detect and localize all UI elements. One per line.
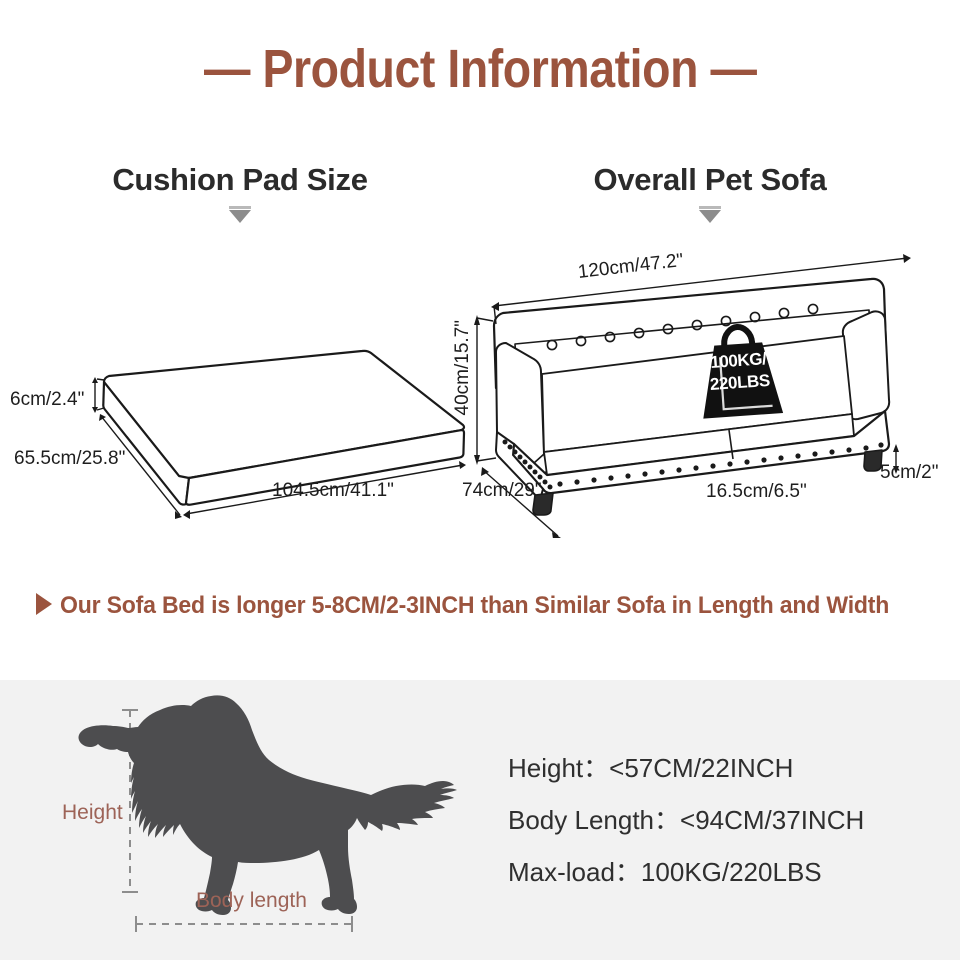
spec-body-length: Body Length：<94CM/37INCH: [508, 794, 864, 846]
highlight-banner: Our Sofa Bed is longer 5-8CM/2-3INCH tha…: [0, 592, 960, 620]
dog-size-panel: Height Body length Height：<57CM/22INCH B…: [0, 680, 960, 960]
product-information-infographic: — Product Information — Cushion Pad Size…: [0, 0, 960, 960]
section-heading-sofa-text: Overall Pet Sofa: [560, 162, 860, 198]
dimension-line-thickness: [92, 377, 104, 413]
cushion-pad-diagram: [0, 330, 470, 535]
sofa-height-label: 40cm/15.7": [452, 320, 476, 415]
cushion-thickness-label: 6cm/2.4": [10, 389, 84, 411]
section-heading-cushion: Cushion Pad Size: [90, 162, 390, 224]
dimension-line-sofa-height: [474, 315, 496, 465]
sofa-seat-height-label: 16.5cm/6.5": [706, 481, 807, 503]
section-heading-cushion-text: Cushion Pad Size: [90, 162, 390, 198]
highlight-banner-text: Our Sofa Bed is longer 5-8CM/2-3INCH tha…: [60, 592, 889, 620]
dog-spec-list: Height：<57CM/22INCH Body Length：<94CM/37…: [508, 742, 864, 898]
cushion-length-label: 104.5cm/41.1": [272, 480, 394, 502]
section-heading-sofa: Overall Pet Sofa: [560, 162, 860, 224]
spec-height: Height：<57CM/22INCH: [508, 742, 864, 794]
max-load-weight-tag: 100KG/ 220LBS: [687, 317, 792, 424]
highlight-banner-inner: Our Sofa Bed is longer 5-8CM/2-3INCH tha…: [36, 592, 924, 620]
page-title-text: — Product Information —: [204, 38, 757, 100]
cushion-pad-illustration: [0, 330, 470, 530]
dog-height-label: Height: [62, 801, 123, 825]
weight-icon: [687, 317, 792, 424]
dog-body-length-label: Body length: [196, 889, 307, 913]
sofa-foot-height-label: 5cm/2": [880, 462, 938, 484]
chevron-down-icon: [226, 206, 254, 224]
chevron-down-icon: [696, 206, 724, 224]
spec-max-load: Max-load：100KG/220LBS: [508, 846, 864, 898]
play-triangle-icon: [36, 593, 52, 615]
sofa-depth-label: 74cm/29": [462, 480, 542, 502]
page-title: — Product Information —: [0, 38, 960, 100]
cushion-width-label: 65.5cm/25.8": [14, 448, 125, 470]
dog-measurement-diagram: Height Body length: [30, 680, 460, 960]
